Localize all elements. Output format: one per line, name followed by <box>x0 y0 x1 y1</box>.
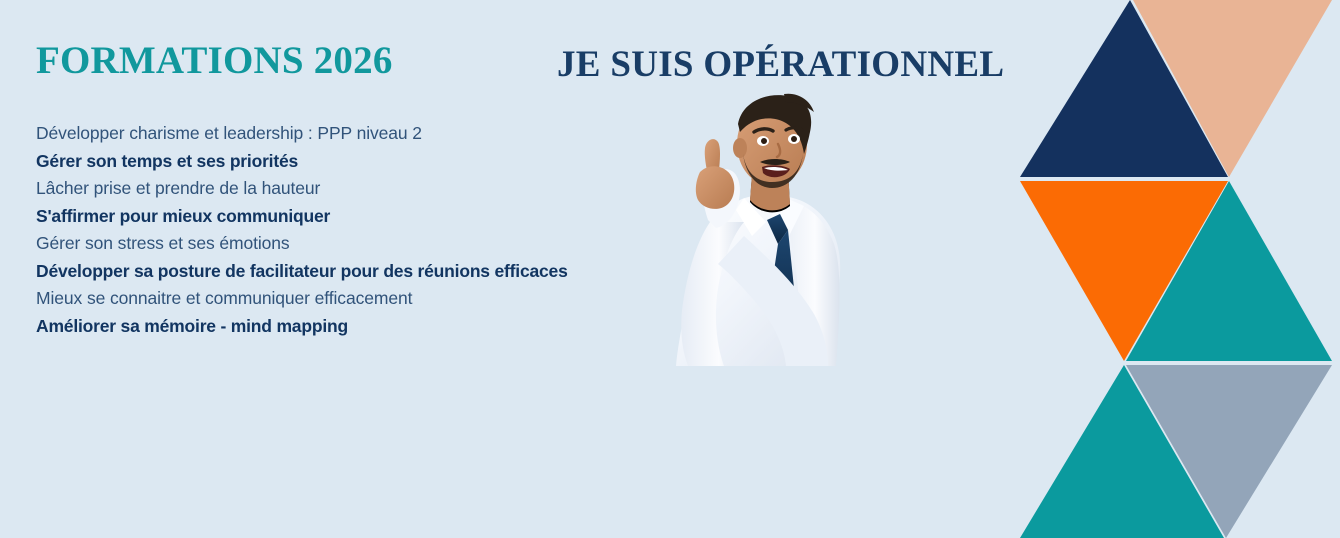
list-item: Développer charisme et leadership : PPP … <box>36 120 666 148</box>
list-item: Mieux se connaitre et communiquer effica… <box>36 285 666 313</box>
list-item: S'affirmer pour mieux communiquer <box>36 203 666 231</box>
list-item: Gérer son temps et ses priorités <box>36 148 666 176</box>
triangle-mosaic <box>1000 0 1340 538</box>
list-item: Améliorer sa mémoire - mind mapping <box>36 313 666 341</box>
list-item: Lâcher prise et prendre de la hauteur <box>36 175 666 203</box>
headline: JE SUIS OPÉRATIONNEL <box>557 42 1004 88</box>
training-promo-banner: FORMATIONS 2026 Développer charisme et l… <box>0 0 1340 538</box>
course-list: Développer charisme et leadership : PPP … <box>36 120 666 340</box>
list-item: Gérer son stress et ses émotions <box>36 230 666 258</box>
person-photo <box>648 88 888 366</box>
list-item: Développer sa posture de facilitateur po… <box>36 258 666 286</box>
